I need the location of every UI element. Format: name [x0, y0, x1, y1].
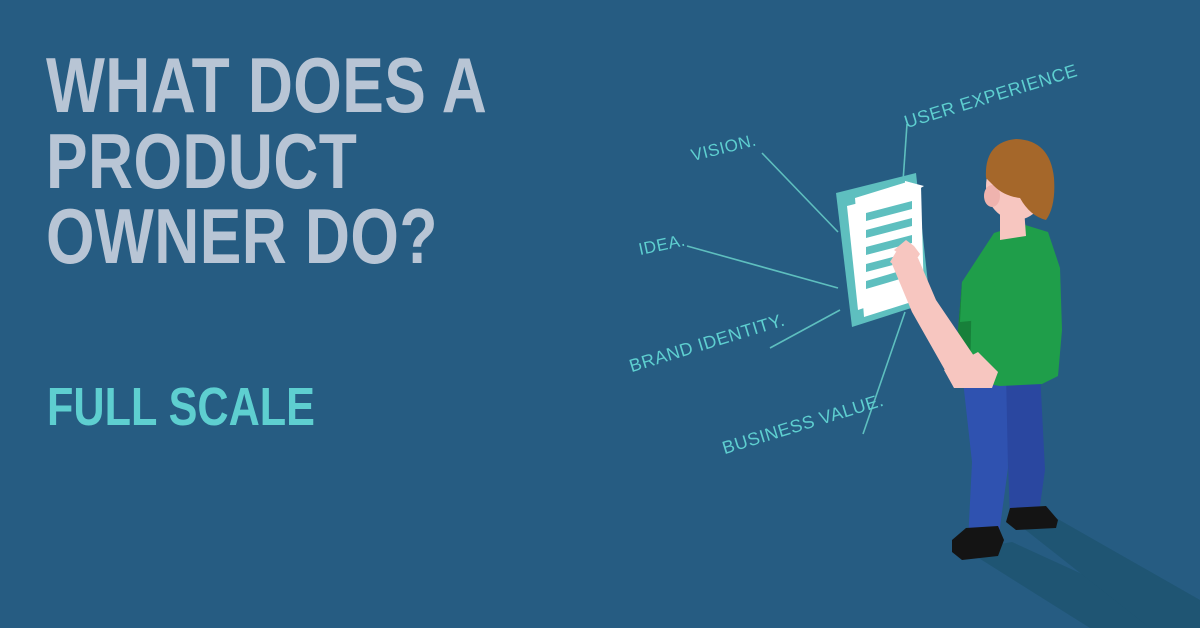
- leader-line-business: [863, 312, 905, 434]
- page-title: What Does A Product Owner Do?: [46, 48, 606, 275]
- shoe-back: [1006, 506, 1058, 530]
- banner: What Does A Product Owner Do? Full Scale…: [0, 0, 1200, 628]
- shoe-front: [952, 526, 1004, 560]
- leg-front: [962, 372, 1008, 542]
- leader-line-idea: [687, 246, 838, 288]
- leader-line-vision: [762, 153, 838, 232]
- brand-logotype: Full Scale: [47, 376, 315, 438]
